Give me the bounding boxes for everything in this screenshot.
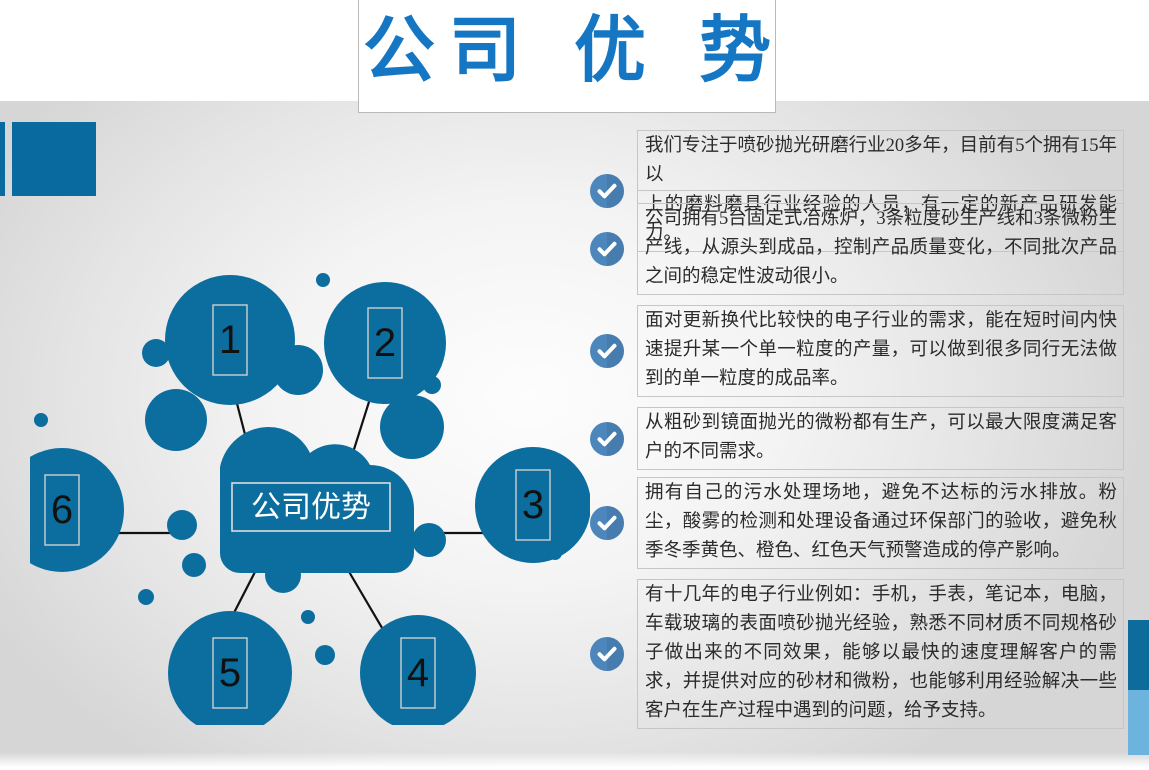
bubble-n	[301, 610, 315, 624]
diagram-node-3[interactable]: 3	[475, 447, 590, 563]
advantage-text-box: 有十几年的电子行业例如：手机，手表，笔记本，电脑，车载玻璃的表面喷砂抛光经验，熟…	[637, 579, 1124, 729]
diagram-node-3-label: 3	[522, 483, 544, 527]
advantages-list: 我们专注于喷砂抛光研磨行业20多年，目前有5个拥有15年以 上的磨料磨具行业经验…	[590, 130, 1140, 750]
advantage-line: 公司拥有5台固定式冶炼炉，3条粒度砂生产线和3条微粉生产线，从源头到成品，控制产…	[645, 205, 1117, 292]
decorative-right-bar-light	[1128, 690, 1149, 755]
bubble-i	[412, 523, 446, 557]
page-title: 公司 优 势	[358, 0, 776, 101]
diagram-node-2[interactable]: 2	[324, 282, 446, 404]
bubble-a	[316, 273, 330, 287]
check-circle-icon	[590, 334, 624, 368]
advantage-text-box: 拥有自己的污水处理场地，避免不达标的污水排放。粉尘，酸雾的检测和处理设备通过环保…	[637, 477, 1124, 569]
slide-root: 公司 优 势	[0, 0, 1149, 770]
company-advantages-diagram: 1 2 3 4	[30, 255, 590, 725]
decorative-left-rectangle	[12, 122, 96, 196]
diagram-node-1-label: 1	[219, 318, 241, 362]
advantage-line: 面对更新换代比较快的电子行业的需求，能在短时间内快速提升某一个单一粒度的产量，可…	[645, 307, 1117, 394]
bubble-o	[315, 645, 335, 665]
diagram-node-4[interactable]: 4	[360, 615, 476, 725]
bubble-g	[34, 413, 48, 427]
diagram-node-6[interactable]: 6	[30, 448, 124, 572]
advantage-text-box: 从粗砂到镜面抛光的微粉都有生产，可以最大限度满足客户的不同需求。	[637, 407, 1124, 470]
diagram-node-5[interactable]: 5	[168, 611, 292, 725]
advantage-line: 有十几年的电子行业例如：手机，手表，笔记本，电脑，车载玻璃的表面喷砂抛光经验，熟…	[645, 581, 1117, 726]
diagram-node-2-label: 2	[374, 321, 396, 365]
advantage-line: 从粗砂到镜面抛光的微粉都有生产，可以最大限度满足客户的不同需求。	[645, 409, 1117, 467]
advantage-text-box: 公司拥有5台固定式冶炼炉，3条粒度砂生产线和3条微粉生产线，从源头到成品，控制产…	[637, 203, 1124, 295]
diagram-node-1[interactable]: 1	[165, 275, 295, 405]
bubble-m	[138, 589, 154, 605]
bubble-d	[145, 389, 207, 451]
advantage-line: 我们专注于喷砂抛光研磨行业20多年，目前有5个拥有15年以	[638, 132, 1123, 191]
bubble-h	[167, 510, 197, 540]
diagram-node-6-label: 6	[51, 488, 73, 532]
bubble-f	[380, 395, 444, 459]
decorative-left-sliver	[0, 122, 5, 196]
bubble-k	[182, 553, 206, 577]
decorative-right-bar-dark	[1128, 620, 1149, 690]
list-item: 有十几年的电子行业例如：手机，手表，笔记本，电脑，车载玻璃的表面喷砂抛光经验，熟…	[590, 579, 1124, 729]
diagram-node-5-label: 5	[219, 651, 241, 695]
advantage-text-box: 面对更新换代比较快的电子行业的需求，能在短时间内快速提升某一个单一粒度的产量，可…	[637, 305, 1124, 397]
list-item: 公司拥有5台固定式冶炼炉，3条粒度砂生产线和3条微粉生产线，从源头到成品，控制产…	[590, 203, 1124, 295]
list-item: 面对更新换代比较快的电子行业的需求，能在短时间内快速提升某一个单一粒度的产量，可…	[590, 305, 1124, 397]
diagram-center-cloud[interactable]: 公司优势	[220, 427, 414, 573]
diagram-center-label: 公司优势	[251, 490, 371, 525]
check-circle-icon	[590, 637, 624, 671]
list-item: 拥有自己的污水处理场地，避免不达标的污水排放。粉尘，酸雾的检测和处理设备通过环保…	[590, 477, 1124, 569]
check-circle-icon	[590, 232, 624, 266]
list-item: 从粗砂到镜面抛光的微粉都有生产，可以最大限度满足客户的不同需求。	[590, 407, 1124, 470]
advantage-line: 拥有自己的污水处理场地，避免不达标的污水排放。粉尘，酸雾的检测和处理设备通过环保…	[645, 479, 1117, 566]
check-circle-icon	[590, 422, 624, 456]
check-circle-icon	[590, 506, 624, 540]
diagram-node-4-label: 4	[407, 651, 429, 695]
